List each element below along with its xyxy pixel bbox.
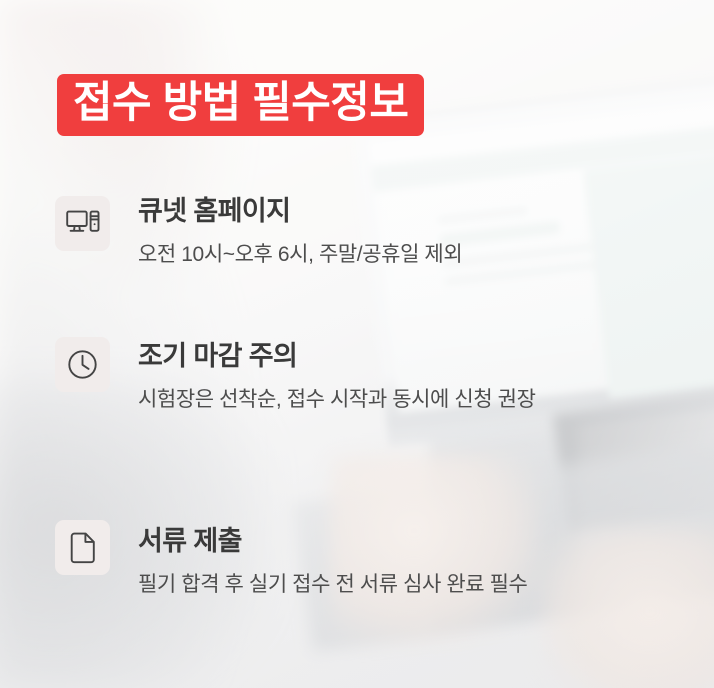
info-card: 접수 방법 필수정보 큐넷 홈페이지 오전 10시~오후 6시, xyxy=(0,0,714,688)
clock-icon xyxy=(55,337,110,392)
desktop-computer-icon xyxy=(55,196,110,251)
info-list: 큐넷 홈페이지 오전 10시~오후 6시, 주말/공휴일 제외 조기 마감 주의… xyxy=(0,176,714,651)
list-item-body: 서류 제출 필기 합격 후 실기 접수 전 서류 심사 완료 필수 xyxy=(138,506,714,602)
list-item-description: 오전 10시~오후 6시, 주말/공휴일 제외 xyxy=(138,238,650,272)
document-icon xyxy=(55,520,110,575)
list-item: 조기 마감 주의 시험장은 선착순, 접수 시작과 동시에 신청 권장 xyxy=(0,321,714,506)
list-item-title: 큐넷 홈페이지 xyxy=(138,176,674,229)
page-title: 접수 방법 필수정보 xyxy=(57,74,424,136)
list-item: 서류 제출 필기 합격 후 실기 접수 전 서류 심사 완료 필수 xyxy=(0,506,714,651)
list-item-description: 필기 합격 후 실기 접수 전 서류 심사 완료 필수 xyxy=(138,568,650,602)
list-item-title: 서류 제출 xyxy=(138,506,674,559)
card-content: 접수 방법 필수정보 큐넷 홈페이지 오전 10시~오후 6시, xyxy=(0,0,714,688)
list-item-body: 조기 마감 주의 시험장은 선착순, 접수 시작과 동시에 신청 권장 xyxy=(138,321,714,417)
list-item-title: 조기 마감 주의 xyxy=(138,321,674,374)
list-item: 큐넷 홈페이지 오전 10시~오후 6시, 주말/공휴일 제외 xyxy=(0,176,714,321)
list-item-body: 큐넷 홈페이지 오전 10시~오후 6시, 주말/공휴일 제외 xyxy=(138,176,714,272)
list-item-description: 시험장은 선착순, 접수 시작과 동시에 신청 권장 xyxy=(138,383,638,417)
